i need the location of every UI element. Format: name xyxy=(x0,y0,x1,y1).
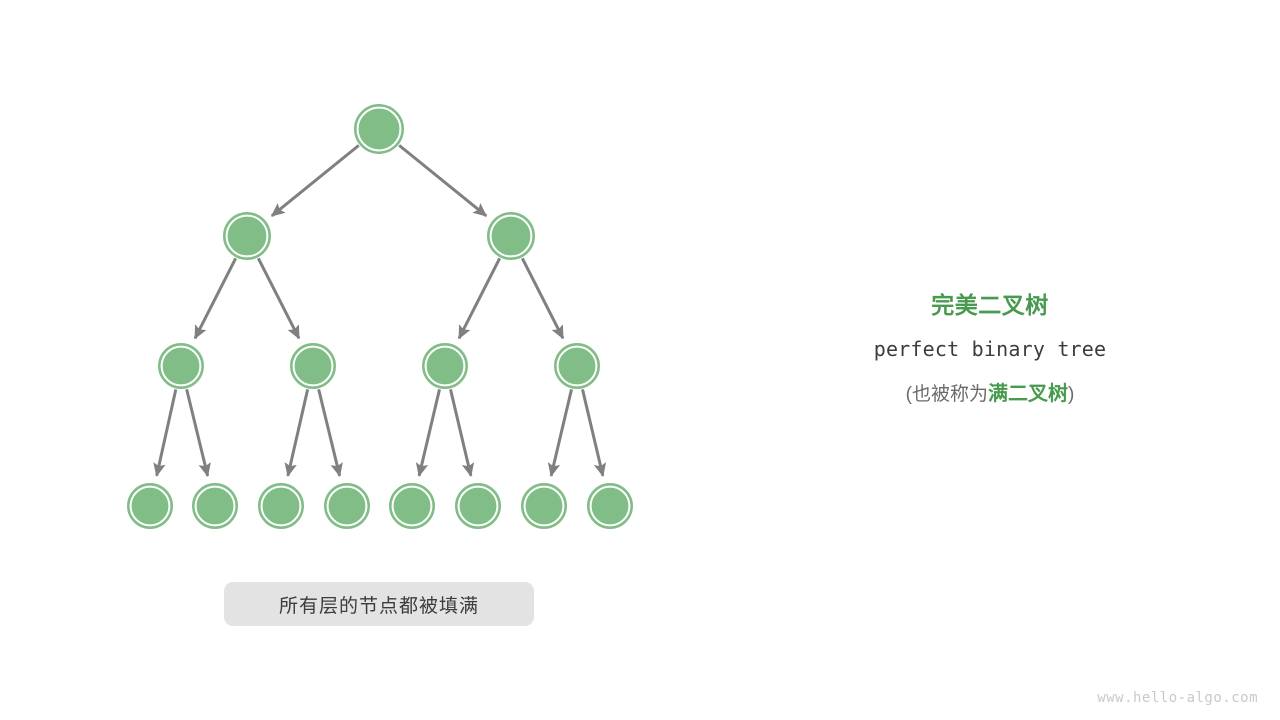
alias-highlight: 满二叉树 xyxy=(988,383,1068,405)
tree-edge xyxy=(288,389,308,475)
tree-type-title: 完美二叉树 xyxy=(790,290,1190,320)
caption-text: 所有层的节点都被填满 xyxy=(279,591,479,618)
tree-node-core xyxy=(359,109,399,149)
tree-node xyxy=(159,344,203,388)
legend-label-block: 完美二叉树 perfect binary tree (也被称为满二叉树) xyxy=(790,290,1190,410)
tree-node-core xyxy=(228,217,266,255)
tree-edge-layer xyxy=(157,145,603,476)
tree-edge xyxy=(157,389,176,475)
tree-node xyxy=(291,344,335,388)
tree-node xyxy=(259,484,303,528)
tree-node xyxy=(456,484,500,528)
tree-node xyxy=(193,484,237,528)
tree-node xyxy=(423,344,467,388)
tree-node-core xyxy=(526,488,562,524)
tree-edge xyxy=(399,145,486,215)
tree-node xyxy=(522,484,566,528)
tree-node xyxy=(390,484,434,528)
tree-edge xyxy=(258,258,299,338)
tree-node xyxy=(488,213,534,259)
tree-edge xyxy=(459,258,500,338)
tree-node-core xyxy=(460,488,496,524)
tree-node-core xyxy=(197,488,233,524)
alias-prefix: (也被称为 xyxy=(906,384,988,405)
tree-node-core xyxy=(559,348,595,384)
tree-edge xyxy=(419,389,439,475)
tree-edge xyxy=(319,389,340,476)
tree-node xyxy=(355,105,403,153)
tree-node xyxy=(325,484,369,528)
tree-node-core xyxy=(492,217,530,255)
tree-node-core xyxy=(163,348,199,384)
tree-edge xyxy=(451,389,471,475)
site-watermark: www.hello-algo.com xyxy=(1097,690,1258,706)
tree-node xyxy=(588,484,632,528)
tree-node xyxy=(128,484,172,528)
tree-node-core xyxy=(295,348,331,384)
tree-edge xyxy=(272,145,359,215)
tree-node-core xyxy=(394,488,430,524)
tree-type-alias: (也被称为满二叉树) xyxy=(790,379,1190,410)
tree-node-core xyxy=(329,488,365,524)
tree-node-core xyxy=(427,348,463,384)
tree-edge xyxy=(551,389,571,475)
tree-node xyxy=(224,213,270,259)
tree-edge xyxy=(583,389,603,475)
tree-node-core xyxy=(263,488,299,524)
tree-node xyxy=(555,344,599,388)
tree-node-core xyxy=(132,488,168,524)
tree-edge xyxy=(187,389,208,476)
tree-edge xyxy=(522,258,563,338)
tree-edge xyxy=(195,258,236,338)
tree-node-core xyxy=(592,488,628,524)
caption-pill: 所有层的节点都被填满 xyxy=(224,582,534,626)
alias-suffix: ) xyxy=(1068,384,1074,405)
tree-type-english: perfect binary tree xyxy=(790,334,1190,364)
